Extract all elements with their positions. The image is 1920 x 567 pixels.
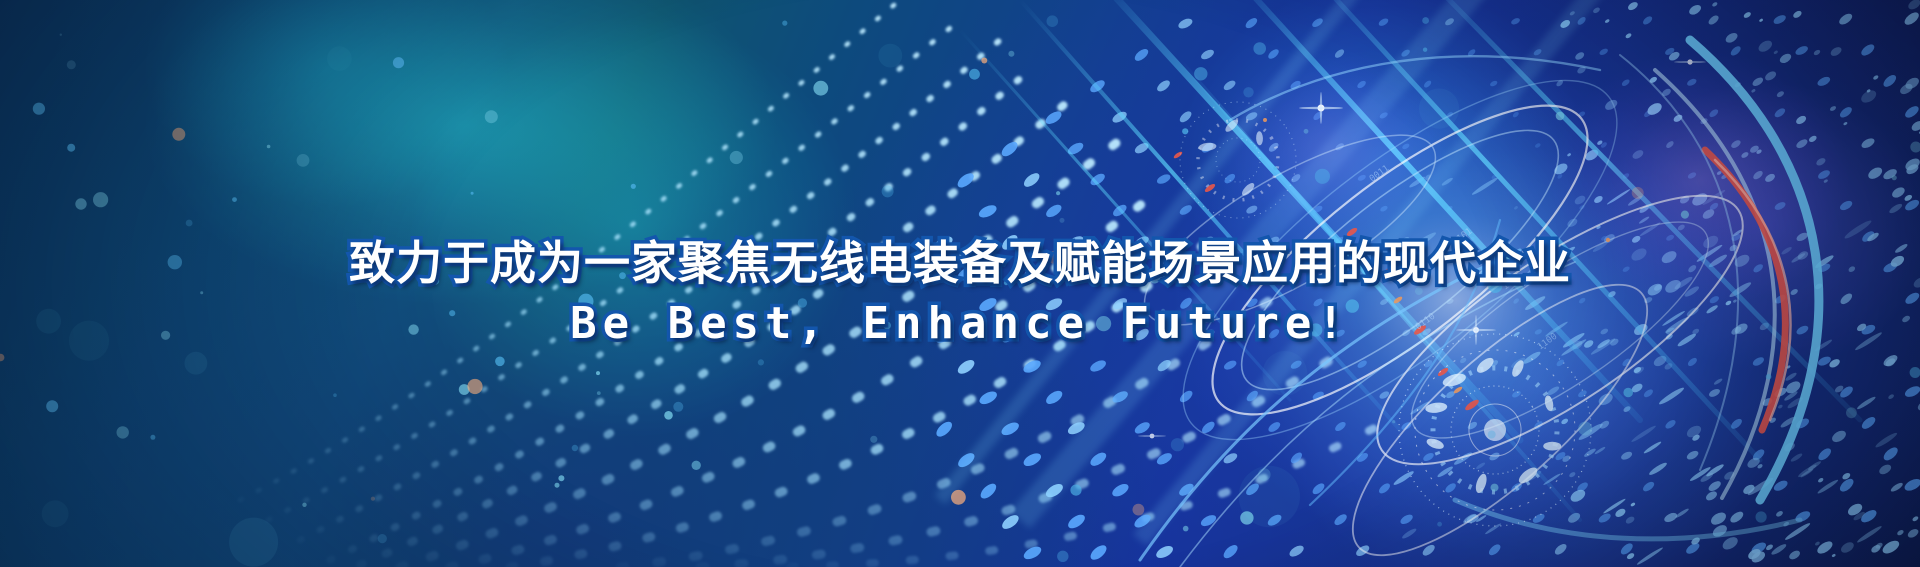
hero-banner: 0101 1001 0110 1100 0011 致力于成为一家聚焦无线电装备及… [0, 0, 1920, 567]
headline-english: Be Best, Enhance Future! [0, 298, 1920, 351]
headline-chinese: 致力于成为一家聚焦无线电装备及赋能场景应用的现代企业 [0, 236, 1920, 290]
svg-text:0011: 0011 [1368, 164, 1391, 185]
headline-block: 致力于成为一家聚焦无线电装备及赋能场景应用的现代企业 Be Best, Enha… [0, 236, 1920, 351]
